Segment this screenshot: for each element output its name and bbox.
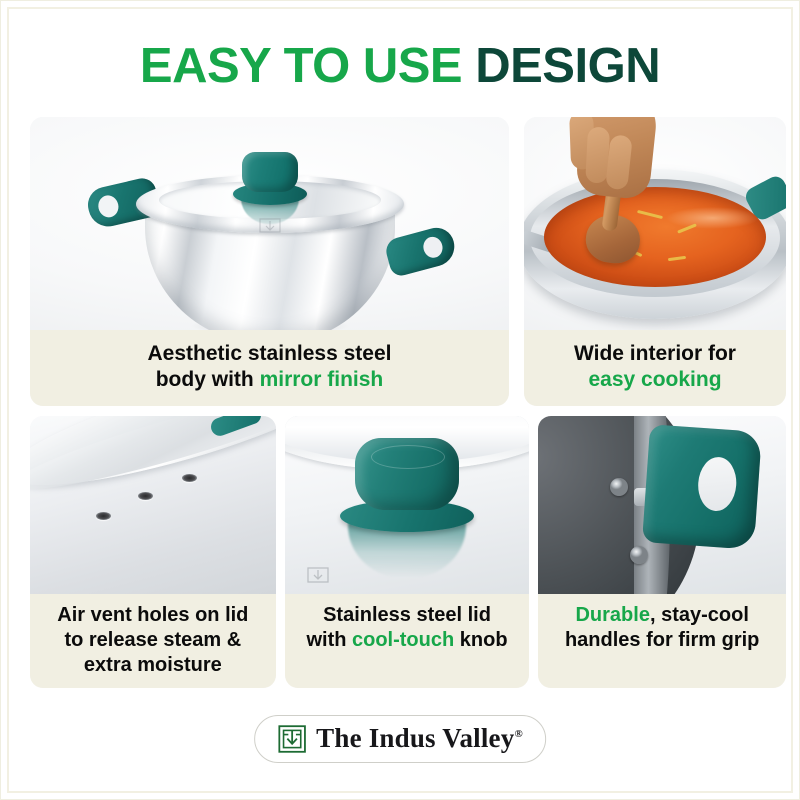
caption-line-2: with cool-touch knob <box>289 628 526 653</box>
caption-wide-interior: Wide interior for easy cooking <box>524 330 786 406</box>
finger <box>605 134 633 190</box>
caption-line-1: Stainless steel lid <box>289 603 526 628</box>
brand-etching-icon <box>303 566 333 588</box>
caption-line-1: Aesthetic stainless steel <box>36 341 503 367</box>
feature-row-top: Aesthetic stainless steel body with mirr… <box>30 117 786 406</box>
feature-card-air-vent-holes: Air vent holes on lid to release steam &… <box>30 416 276 688</box>
brand-name: The Indus Valley® <box>316 723 523 754</box>
caption-air-vent-holes: Air vent holes on lid to release steam &… <box>30 594 276 688</box>
knob-top <box>242 152 298 192</box>
caption-line-1: Durable, stay-cool <box>542 603 782 628</box>
caption-line-3: extra moisture <box>34 653 272 678</box>
feature-grid: Aesthetic stainless steel body with mirr… <box>30 117 786 688</box>
photo-stainless-steel-kadai-with-lid <box>30 117 509 330</box>
feature-card-cool-touch-knob: Stainless steel lid with cool-touch knob <box>285 416 530 688</box>
infographic-page: EASY TO USE DESIGN <box>0 0 800 800</box>
page-title: EASY TO USE DESIGN <box>9 42 791 91</box>
page-title-part2: DESIGN <box>475 39 660 93</box>
caption-line-2: easy cooking <box>530 367 780 393</box>
caption-line-2: handles for firm grip <box>542 628 782 653</box>
feature-row-bottom: Air vent holes on lid to release steam &… <box>30 416 786 688</box>
curry-liquid <box>544 187 766 287</box>
caption-stay-cool-handles: Durable, stay-cool handles for firm grip <box>538 594 786 688</box>
page-title-part1: EASY TO USE <box>140 39 462 93</box>
silicone-handle <box>642 424 762 550</box>
caption-line-1: Wide interior for <box>530 341 780 367</box>
feature-card-wide-interior: Wide interior for easy cooking <box>524 117 786 406</box>
caption-line-2: body with mirror finish <box>36 367 503 393</box>
feature-card-stay-cool-handles: Durable, stay-cool handles for firm grip <box>538 416 786 688</box>
caption-aesthetic-body: Aesthetic stainless steel body with mirr… <box>30 330 509 406</box>
caption-cool-touch-knob: Stainless steel lid with cool-touch knob <box>285 594 530 688</box>
page-frame: EASY TO USE DESIGN <box>7 7 793 793</box>
photo-cool-touch-knob <box>285 416 530 594</box>
photo-stay-cool-handle <box>538 416 786 594</box>
chili-garnish <box>637 210 663 219</box>
caption-line-2: to release steam & <box>34 628 272 653</box>
indus-valley-emblem-icon <box>277 724 307 754</box>
photo-hand-stirring-curry <box>524 117 786 330</box>
knob-top <box>355 438 459 510</box>
photo-lid-air-vents <box>30 416 276 594</box>
brand-logo: The Indus Valley® <box>254 715 546 763</box>
feature-card-aesthetic-body: Aesthetic stainless steel body with mirr… <box>30 117 509 406</box>
brand-etching-icon <box>253 217 287 239</box>
curry-highlight <box>666 207 759 229</box>
chili-garnish <box>668 256 686 261</box>
caption-line-1: Air vent holes on lid <box>34 603 272 628</box>
